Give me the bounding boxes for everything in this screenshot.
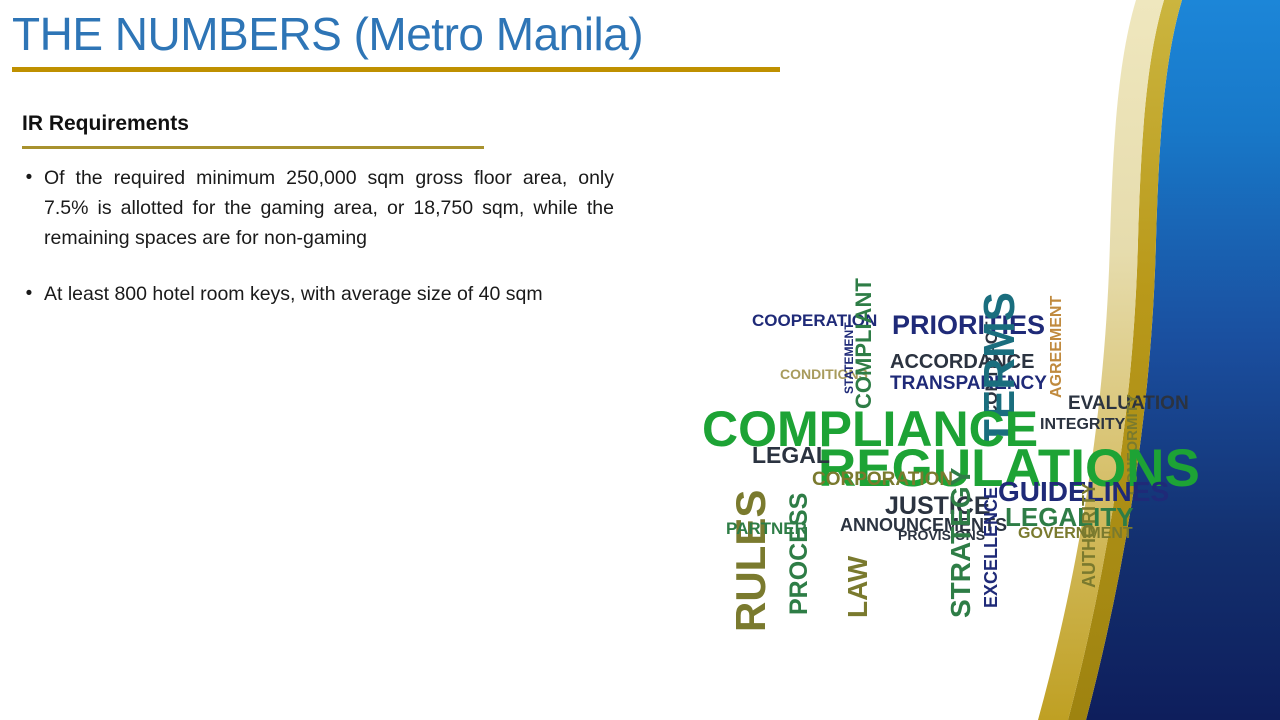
wordcloud-word: INTEGRITY: [1040, 417, 1125, 433]
wordcloud-word: AUTHORITY: [1080, 483, 1098, 588]
subheading-underline-rule: [22, 146, 484, 149]
wordcloud-word: CORPORATION: [812, 470, 953, 489]
title-block: THE NUMBERS (Metro Manila): [12, 6, 802, 72]
bullet-list: • Of the required minimum 250,000 sqm gr…: [14, 163, 614, 335]
list-item: • At least 800 hotel room keys, with ave…: [14, 279, 614, 309]
bullet-text: At least 800 hotel room keys, with avera…: [44, 279, 614, 309]
slide-canvas: THE NUMBERS (Metro Manila) IR Requiremen…: [0, 0, 1280, 720]
list-item: • Of the required minimum 250,000 sqm gr…: [14, 163, 614, 253]
wordcloud-word: AGREEMENT: [1049, 296, 1065, 398]
wordcloud-word: LAW: [844, 556, 872, 618]
wordcloud-word: LEGAL: [752, 444, 830, 467]
wordcloud-word: STRATEGY: [947, 468, 975, 618]
wordcloud-image: COOPERATIONCONDITIONSSTATEMENTCOMPLIANTP…: [700, 222, 1180, 602]
bullet-marker-icon: •: [14, 279, 44, 309]
title-underline-rule: [12, 67, 780, 72]
page-title: THE NUMBERS (Metro Manila): [12, 6, 802, 62]
bullet-marker-icon: •: [14, 163, 44, 193]
subheading-block: IR Requirements: [22, 110, 492, 149]
wordcloud-word: COMPLIANT: [853, 278, 875, 409]
section-heading: IR Requirements: [22, 110, 492, 138]
bullet-text: Of the required minimum 250,000 sqm gros…: [44, 163, 614, 253]
wordcloud-word: GOVERNMENT: [1018, 526, 1133, 542]
wordcloud-word: PROCESS: [787, 493, 812, 615]
wordcloud-word: RULES: [730, 490, 772, 632]
wordcloud-word: PARTNER: [726, 520, 807, 537]
